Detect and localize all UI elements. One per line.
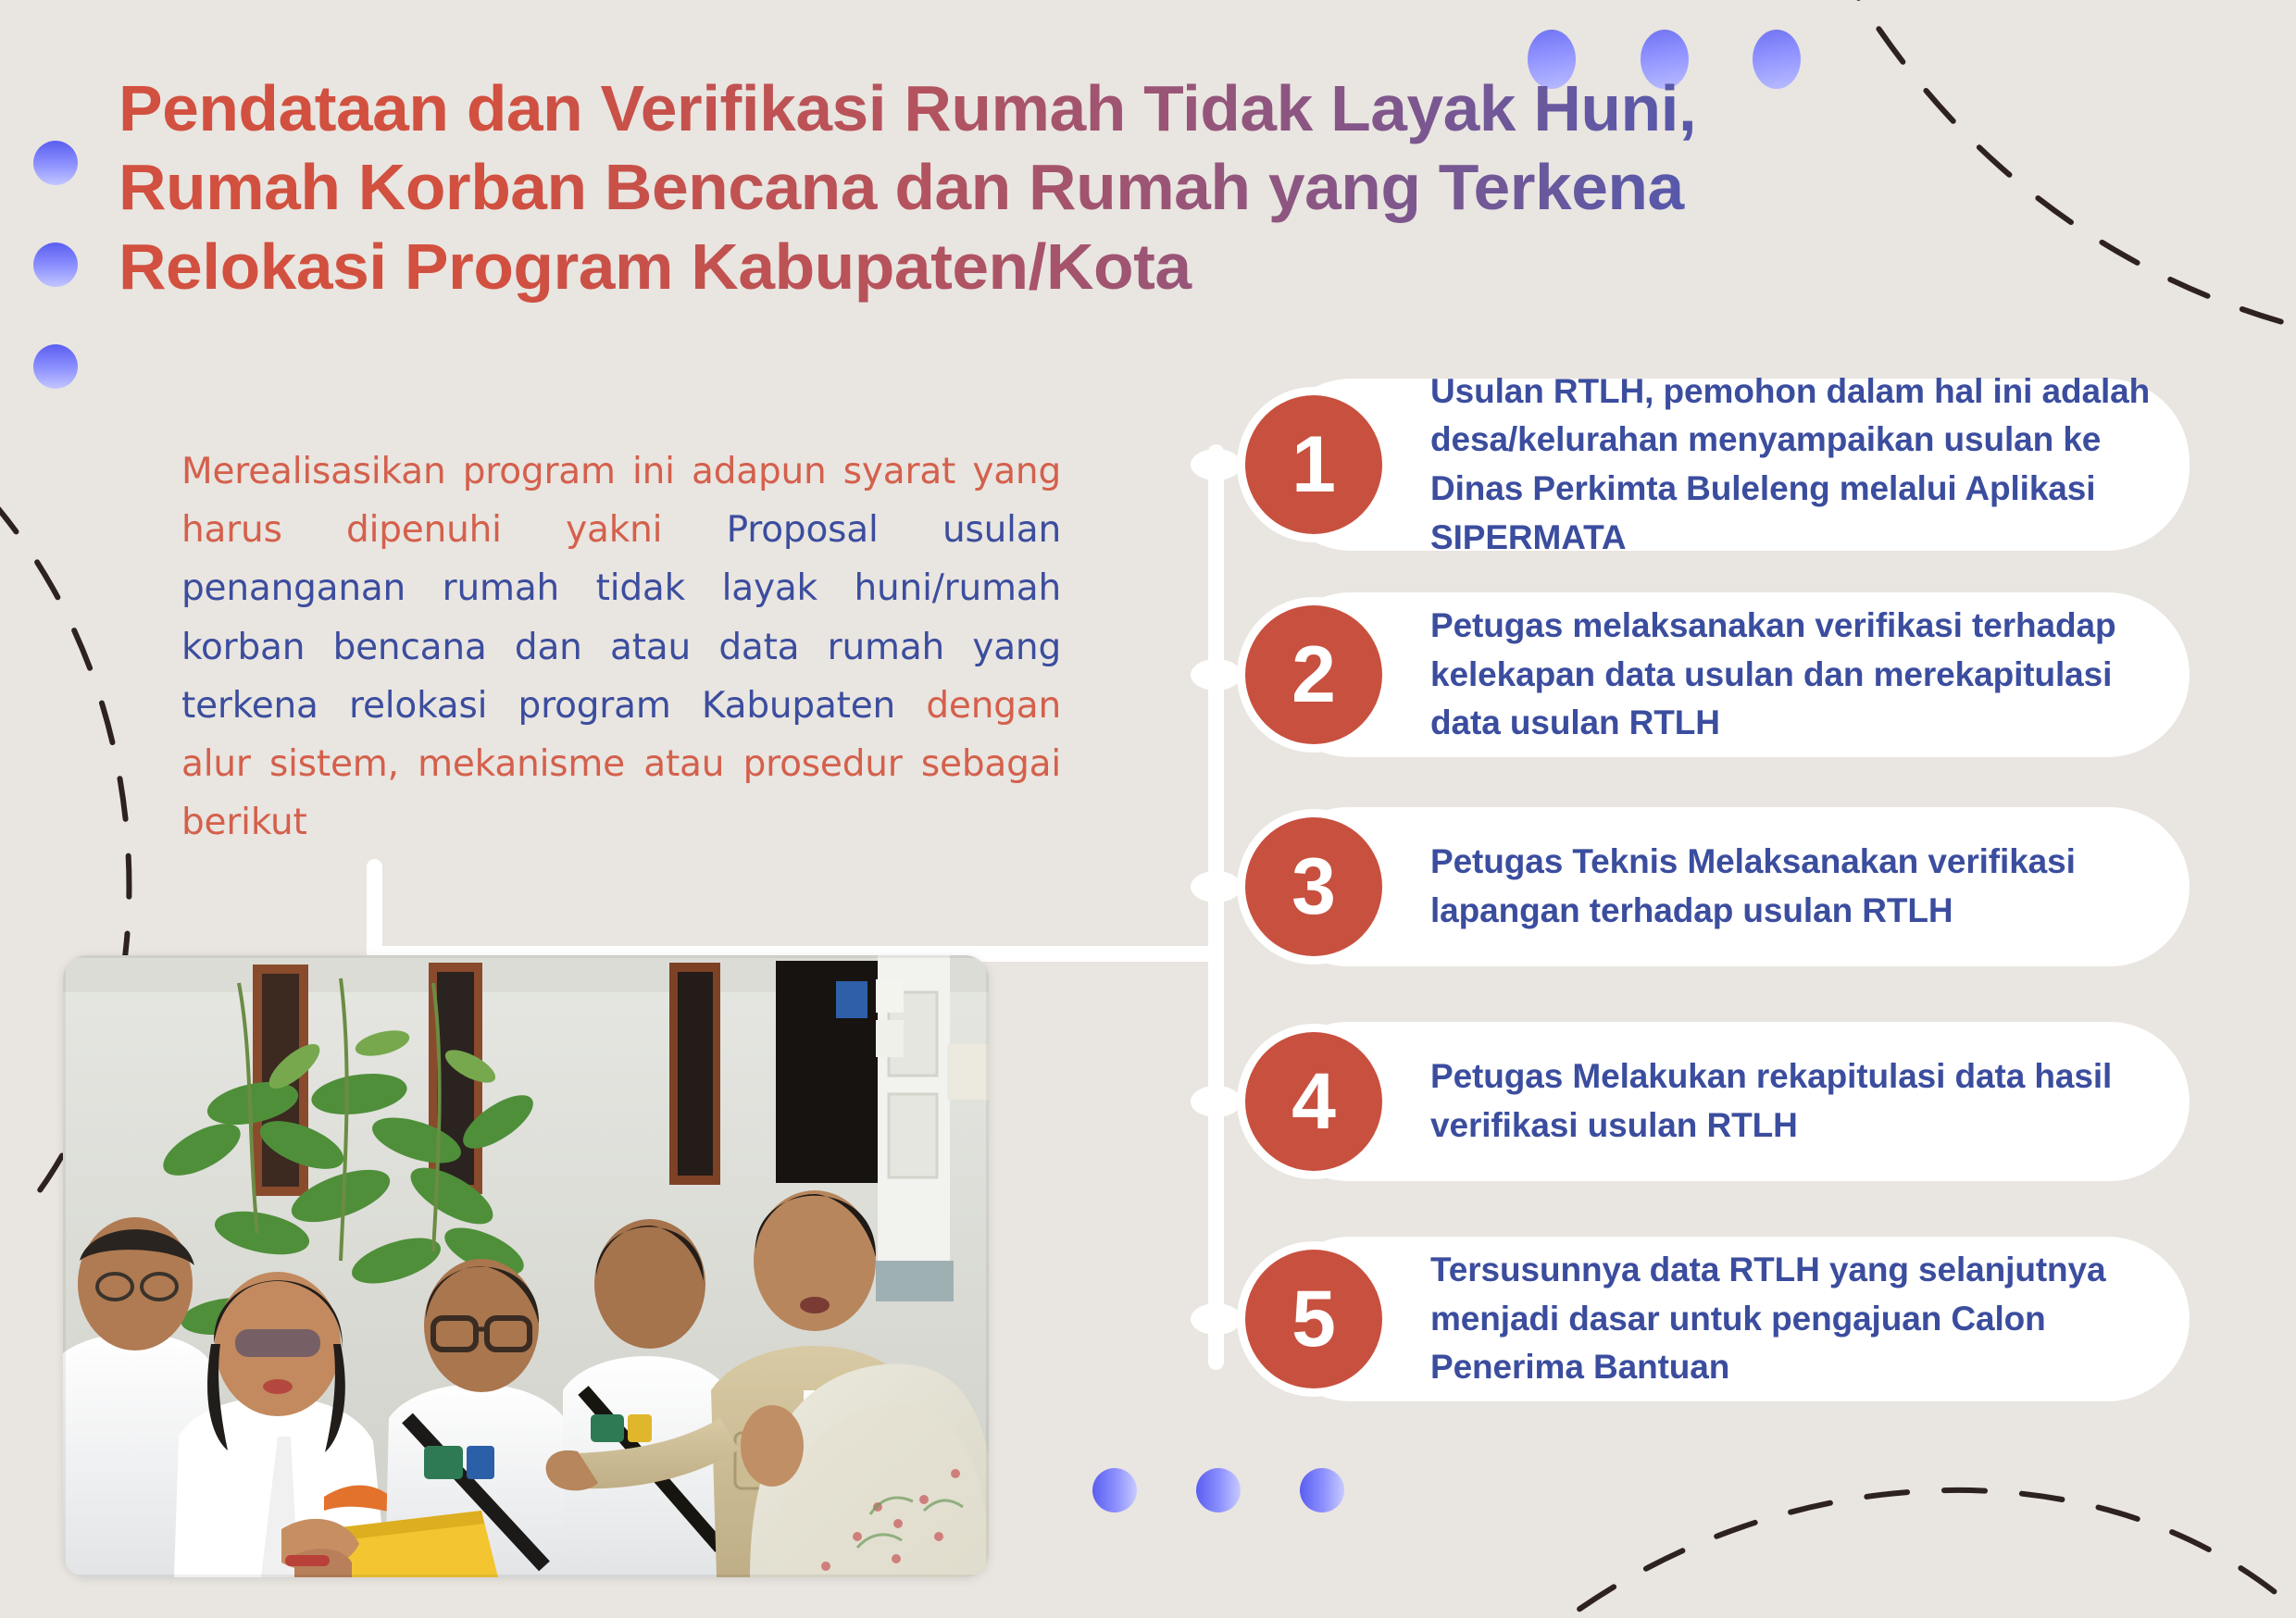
step-card-5[interactable]: 5 Tersusunnya data RTLH yang selanjutnya… (1268, 1237, 2190, 1401)
decor-dot-left-2 (33, 243, 78, 287)
slide-canvas: Pendataan dan Verifikasi Rumah Tidak Lay… (0, 0, 2296, 1618)
page-title: Pendataan dan Verifikasi Rumah Tidak Lay… (119, 69, 1780, 306)
step-number-badge-2: 2 (1245, 605, 1382, 744)
timeline-node-2 (1191, 659, 1242, 691)
step-text-3: Petugas Teknis Melaksanakan verifikasi l… (1430, 838, 2076, 935)
step-number-badge-3: 3 (1245, 817, 1382, 956)
timeline-node-4 (1191, 1086, 1242, 1117)
step-card-4[interactable]: 4 Petugas Melakukan rekapitulasi data ha… (1268, 1022, 2190, 1181)
step-number-badge-4: 4 (1245, 1032, 1382, 1171)
dashed-curve-bottom-right (1518, 1490, 2296, 1618)
photo-illustration (63, 955, 989, 1577)
step-text-4: Petugas Melakukan rekapitulasi data hasi… (1430, 1052, 2112, 1150)
step-text-2: Petugas melaksanakan verifikasi terhadap… (1430, 602, 2115, 748)
timeline-node-1 (1191, 449, 1242, 480)
site-visit-photo (63, 955, 989, 1577)
step-number-badge-5: 5 (1245, 1250, 1382, 1388)
decor-dot-bottom-3 (1300, 1468, 1344, 1512)
step-text-5: Tersusunnya data RTLH yang selanjutnya m… (1430, 1246, 2106, 1392)
timeline-spine (1208, 444, 1224, 1370)
step-card-2[interactable]: 2 Petugas melaksanakan verifikasi terhad… (1268, 592, 2190, 757)
dashed-curve-top-right (1838, 0, 2296, 342)
decor-dot-bottom-1 (1092, 1468, 1137, 1512)
connector-branch-vertical (367, 859, 382, 956)
decor-dot-left-3 (33, 344, 78, 389)
timeline-node-5 (1191, 1303, 1242, 1335)
step-number-badge-1: 1 (1245, 395, 1382, 534)
timeline-node-3 (1191, 871, 1242, 902)
step-card-3[interactable]: 3 Petugas Teknis Melaksanakan verifikasi… (1268, 807, 2190, 966)
step-text-1: Usulan RTLH, pemohon dalam hal ini adala… (1430, 367, 2150, 562)
intro-paragraph: Merealisasikan program ini adapun syarat… (181, 442, 1061, 852)
decor-dot-left-1 (33, 141, 78, 185)
step-card-1[interactable]: 1 Usulan RTLH, pemohon dalam hal ini ada… (1268, 379, 2190, 551)
decor-dot-bottom-2 (1196, 1468, 1241, 1512)
